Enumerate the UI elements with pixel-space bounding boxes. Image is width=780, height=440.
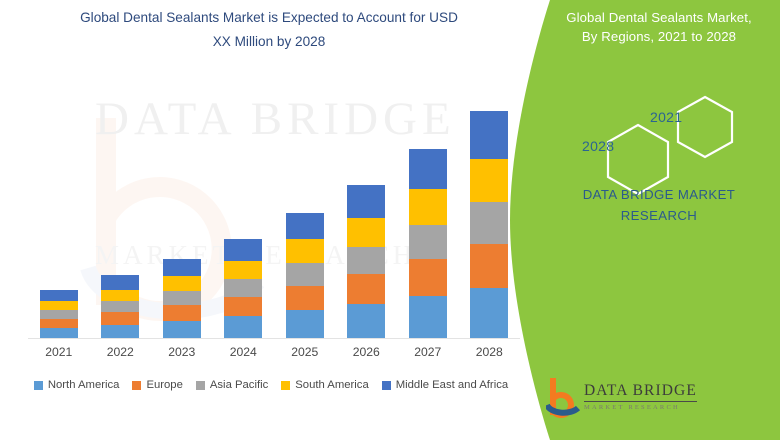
- bar-segment-south-america[interactable]: [40, 301, 78, 310]
- bar-segment-europe[interactable]: [40, 319, 78, 328]
- bar-segment-europe[interactable]: [347, 274, 385, 304]
- bar-2025[interactable]: [286, 213, 324, 338]
- bar-2022[interactable]: [101, 275, 139, 338]
- bar-segment-asia-pacific[interactable]: [224, 279, 262, 296]
- hexagon-2021-label: 2021: [650, 109, 682, 125]
- bar-segment-south-america[interactable]: [470, 159, 508, 202]
- x-axis-tick-2022: 2022: [90, 345, 150, 359]
- hexagon-2028-label: 2028: [582, 138, 614, 154]
- legend-label: South America: [295, 379, 368, 391]
- bar-segment-asia-pacific[interactable]: [286, 263, 324, 286]
- bar-segment-north-america[interactable]: [101, 325, 139, 338]
- bar-segment-north-america[interactable]: [40, 328, 78, 338]
- bar-segment-south-america[interactable]: [163, 276, 201, 290]
- x-axis-tick-2026: 2026: [336, 345, 396, 359]
- bar-segment-south-america[interactable]: [101, 290, 139, 301]
- chart-baseline: [28, 338, 520, 339]
- databridge-logo-subtitle: MARKET RESEARCH: [584, 404, 697, 411]
- bar-segment-asia-pacific[interactable]: [470, 202, 508, 243]
- databridge-logo-text: DATA BRIDGE MARKET RESEARCH: [584, 382, 697, 411]
- chart-title-line2: XX Million by 2028: [24, 30, 514, 54]
- bar-segment-middle-east-and-africa[interactable]: [409, 149, 447, 189]
- bar-segment-europe[interactable]: [409, 259, 447, 296]
- bar-segment-middle-east-and-africa[interactable]: [224, 239, 262, 261]
- legend-label: North America: [48, 379, 120, 391]
- bar-segment-asia-pacific[interactable]: [347, 247, 385, 275]
- bar-2026[interactable]: [347, 185, 385, 338]
- hexagon-group: 2028 2021: [520, 85, 780, 195]
- chart-title-line1: Global Dental Sealants Market is Expecte…: [24, 6, 514, 30]
- bar-segment-middle-east-and-africa[interactable]: [347, 185, 385, 218]
- bar-2027[interactable]: [409, 149, 447, 338]
- bar-segment-middle-east-and-africa[interactable]: [40, 290, 78, 301]
- x-axis-tick-2025: 2025: [275, 345, 335, 359]
- panel-title: Global Dental Sealants Market, By Region…: [548, 8, 770, 46]
- bar-chart-plot-area: [28, 60, 520, 338]
- bar-segment-north-america[interactable]: [347, 304, 385, 338]
- slide-root: DATA BRIDGE MARKET RESEARCH Global Denta…: [0, 0, 780, 440]
- x-axis-labels: 20212022202320242025202620272028: [28, 345, 520, 367]
- x-axis-tick-2024: 2024: [213, 345, 273, 359]
- legend-item-north-america[interactable]: North America: [34, 379, 120, 391]
- x-axis-tick-2023: 2023: [152, 345, 212, 359]
- bar-segment-north-america[interactable]: [163, 321, 201, 338]
- databridge-logo: DATA BRIDGE MARKET RESEARCH: [546, 378, 726, 422]
- bar-segment-middle-east-and-africa[interactable]: [470, 111, 508, 159]
- bar-2024[interactable]: [224, 239, 262, 338]
- legend-label: Asia Pacific: [210, 379, 268, 391]
- bar-segment-asia-pacific[interactable]: [40, 310, 78, 318]
- bar-segment-europe[interactable]: [163, 305, 201, 320]
- bar-segment-middle-east-and-africa[interactable]: [163, 259, 201, 276]
- panel-brand-line2: RESEARCH: [548, 205, 770, 226]
- legend-item-asia-pacific[interactable]: Asia Pacific: [196, 379, 268, 391]
- legend-swatch-icon: [196, 381, 205, 390]
- chart-title: Global Dental Sealants Market is Expecte…: [24, 6, 514, 54]
- databridge-logo-name: DATA BRIDGE: [584, 382, 697, 402]
- panel-title-line2: By Regions, 2021 to 2028: [548, 27, 770, 46]
- bar-segment-south-america[interactable]: [224, 261, 262, 279]
- legend-swatch-icon: [132, 381, 141, 390]
- x-axis-tick-2021: 2021: [29, 345, 89, 359]
- bar-segment-south-america[interactable]: [347, 218, 385, 247]
- databridge-logo-mark-icon: [546, 378, 580, 418]
- legend-swatch-icon: [382, 381, 391, 390]
- x-axis-tick-2028: 2028: [459, 345, 519, 359]
- legend-item-south-america[interactable]: South America: [281, 379, 368, 391]
- panel-brand-line1: DATA BRIDGE MARKET: [548, 184, 770, 205]
- bar-segment-asia-pacific[interactable]: [409, 225, 447, 259]
- legend-item-europe[interactable]: Europe: [132, 379, 182, 391]
- legend-label: Europe: [146, 379, 182, 391]
- bar-segment-north-america[interactable]: [470, 288, 508, 338]
- legend-swatch-icon: [281, 381, 290, 390]
- legend-label: Middle East and Africa: [396, 379, 508, 391]
- legend-swatch-icon: [34, 381, 43, 390]
- hexagon-shapes-icon: [520, 85, 780, 195]
- bar-segment-south-america[interactable]: [286, 239, 324, 263]
- bar-segment-europe[interactable]: [286, 286, 324, 311]
- bar-segment-europe[interactable]: [470, 244, 508, 288]
- bar-segment-middle-east-and-africa[interactable]: [286, 213, 324, 240]
- chart-legend: North AmericaEuropeAsia PacificSouth Ame…: [28, 376, 514, 394]
- panel-title-line1: Global Dental Sealants Market,: [548, 8, 770, 27]
- bar-2023[interactable]: [163, 259, 201, 338]
- bar-segment-north-america[interactable]: [409, 296, 447, 338]
- bar-segment-middle-east-and-africa[interactable]: [101, 275, 139, 289]
- bar-segment-asia-pacific[interactable]: [101, 301, 139, 312]
- bar-segment-europe[interactable]: [224, 297, 262, 317]
- bar-segment-europe[interactable]: [101, 312, 139, 324]
- bar-segment-north-america[interactable]: [286, 310, 324, 338]
- x-axis-tick-2027: 2027: [398, 345, 458, 359]
- bar-2021[interactable]: [40, 290, 78, 338]
- hexagon-2021-shape: [678, 97, 732, 157]
- legend-item-middle-east-and-africa[interactable]: Middle East and Africa: [382, 379, 508, 391]
- panel-brand-text: DATA BRIDGE MARKET RESEARCH: [548, 184, 770, 226]
- bar-2028[interactable]: [470, 111, 508, 338]
- bar-segment-north-america[interactable]: [224, 316, 262, 338]
- bar-segment-south-america[interactable]: [409, 189, 447, 225]
- bar-segment-asia-pacific[interactable]: [163, 291, 201, 305]
